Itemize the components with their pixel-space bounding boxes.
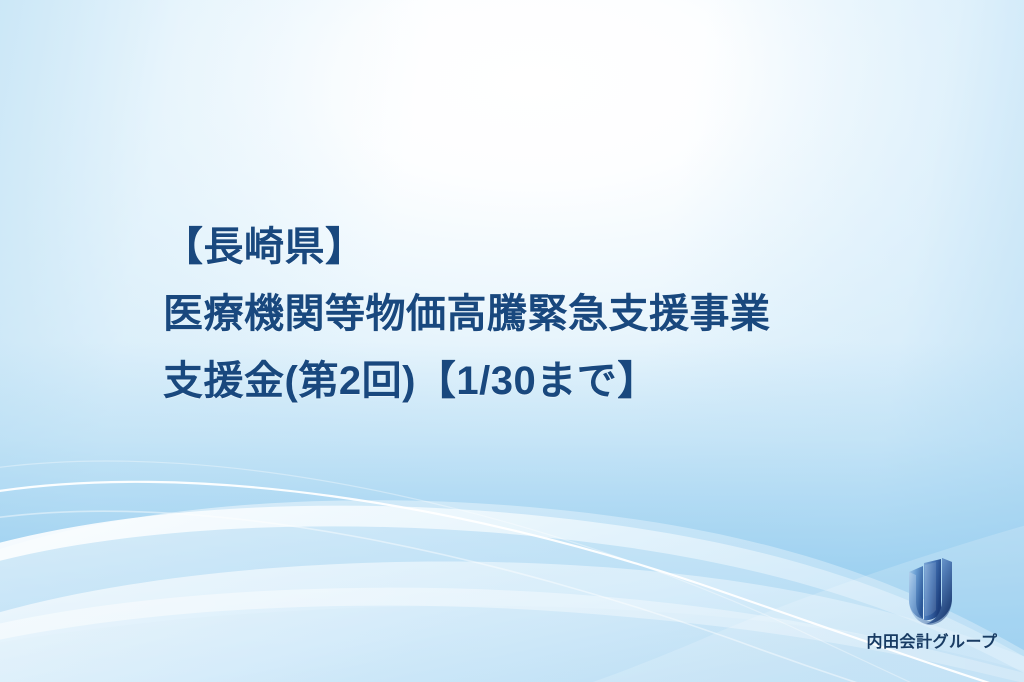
title-line-2: 医療機関等物価高騰緊急支援事業 [163, 291, 923, 338]
title-line-1: 【長崎県】 [163, 224, 923, 271]
title-line-3: 支援金(第2回)【1/30まで】 [163, 358, 923, 405]
slide-title: 【長崎県】 医療機関等物価高騰緊急支援事業 支援金(第2回)【1/30まで】 [163, 224, 923, 405]
presentation-slide: 【長崎県】 医療機関等物価高騰緊急支援事業 支援金(第2回)【1/30まで】 [0, 0, 1024, 682]
uchida-shield-u-mark-icon [896, 556, 964, 626]
company-name: 内田会計グループ [862, 628, 1002, 652]
company-logo: 内田会計グループ [862, 556, 1002, 658]
